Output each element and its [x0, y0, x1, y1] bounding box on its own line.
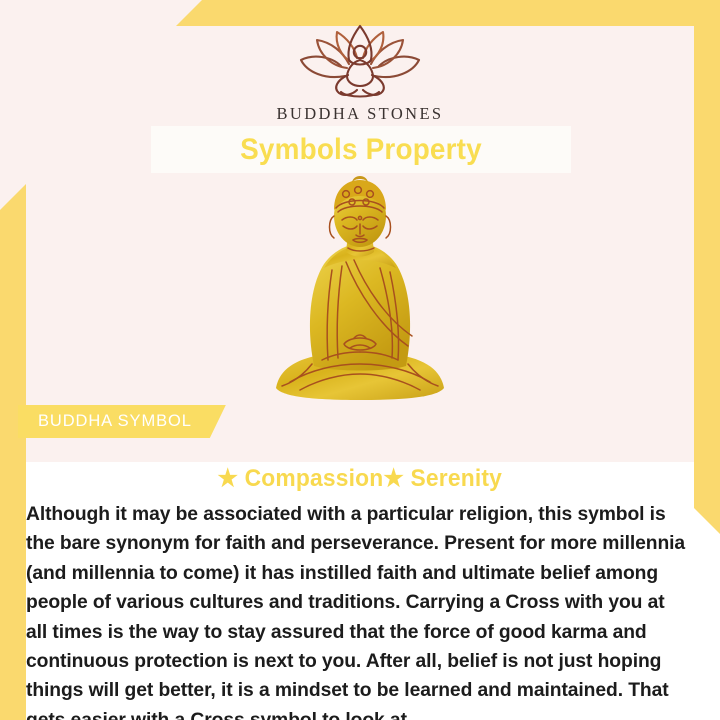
seated-golden-buddha-illustration: [262, 176, 458, 404]
brand-logo: BUDDHA STONES: [0, 22, 720, 124]
lotus-meditation-icon: [285, 22, 435, 102]
title-banner: Symbols Property: [151, 126, 571, 173]
infographic-page: BUDDHA STONES Symbols Property: [0, 0, 720, 720]
buddha-symbol-tag-label: BUDDHA SYMBOL: [38, 412, 192, 431]
buddha-symbol-tag: BUDDHA SYMBOL: [18, 405, 226, 438]
brand-name: BUDDHA STONES: [0, 104, 720, 124]
buddha-illustration: [0, 176, 720, 404]
virtues-heading: ★ Compassion★ Serenity: [0, 464, 720, 493]
virtues-heading-text: ★ Compassion★ Serenity: [218, 464, 503, 493]
body-paragraph: Although it may be associated with a par…: [26, 500, 686, 720]
page-title: Symbols Property: [240, 133, 482, 167]
